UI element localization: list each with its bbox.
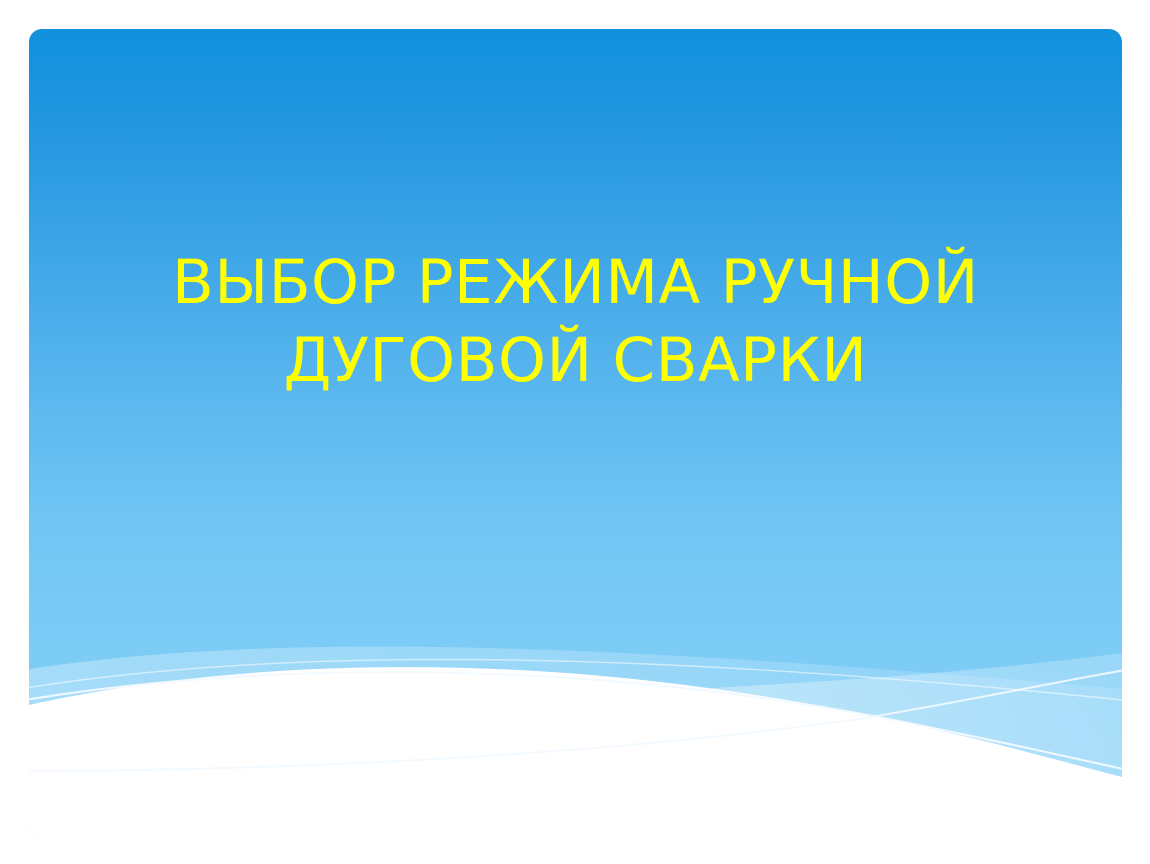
title-line-1: ВЫБОР РЕЖИМА РУЧНОЙ — [69, 244, 1082, 322]
slide-canvas: ВЫБОР РЕЖИМА РУЧНОЙ ДУГОВОЙ СВАРКИ — [29, 29, 1122, 835]
slide-root: ВЫБОР РЕЖИМА РУЧНОЙ ДУГОВОЙ СВАРКИ — [0, 0, 1150, 864]
slide-title: ВЫБОР РЕЖИМА РУЧНОЙ ДУГОВОЙ СВАРКИ — [29, 244, 1122, 400]
decorative-wave-graphic — [29, 29, 1122, 835]
title-line-2: ДУГОВОЙ СВАРКИ — [69, 322, 1082, 400]
